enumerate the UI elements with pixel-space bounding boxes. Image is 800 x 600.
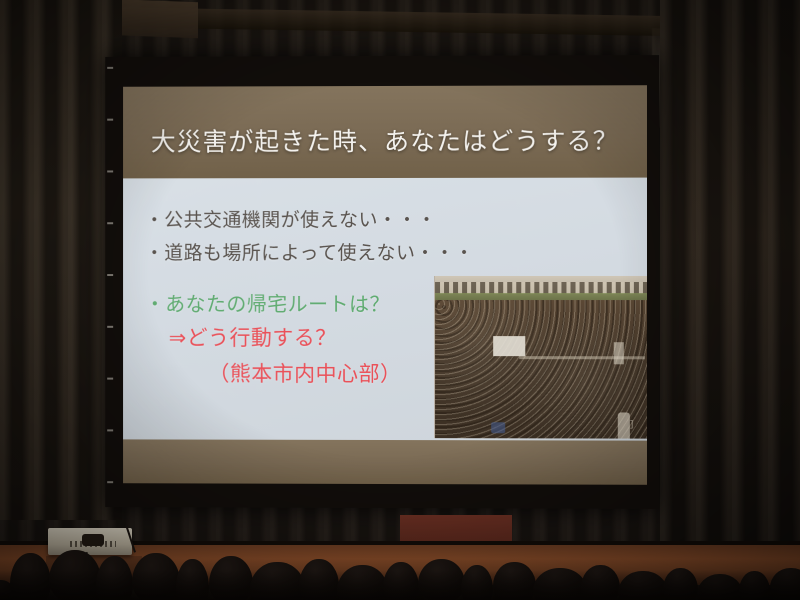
list-item: ・道路も場所によって使えない・・・	[145, 237, 474, 270]
list-item: ・公共交通機関が使えない・・・	[145, 204, 474, 237]
projection-screen: 大災害が起きた時、あなたはどうする？ ・公共交通機関が使えない・・・ ・道路も場…	[105, 55, 659, 509]
audience-foreground-shadow	[0, 570, 800, 600]
photo-light-post	[614, 342, 624, 364]
photo-white-figure	[618, 412, 630, 438]
screen-grommets	[107, 67, 113, 497]
slide-highlight-red-primary: ⇒どう行動する？	[169, 322, 337, 352]
stage-curtain-right	[660, 0, 800, 560]
photo-blue-figure	[491, 422, 505, 433]
photo-corner-mark: ］	[630, 418, 639, 431]
slide-bullet-list: ・公共交通機関が使えない・・・ ・道路も場所によって使えない・・・	[145, 204, 474, 270]
slide-crowd-photo: ］	[434, 276, 647, 439]
presentation-slide: 大災害が起きた時、あなたはどうする？ ・公共交通機関が使えない・・・ ・道路も場…	[123, 85, 647, 485]
photo-scene: 大災害が起きた時、あなたはどうする？ ・公共交通機関が使えない・・・ ・道路も場…	[0, 0, 800, 600]
slide-highlight-green: ・あなたの帰宅ルートは？	[145, 288, 390, 317]
slide-footer-band	[123, 439, 647, 484]
slide-title: 大災害が起きた時、あなたはどうする？	[123, 121, 647, 158]
photo-white-board	[493, 336, 525, 356]
slide-highlight-red-secondary: （熊本市内中心部）	[208, 358, 401, 388]
photo-rail-line	[519, 356, 645, 359]
stage-curtain-left	[0, 0, 122, 520]
photo-crowd-area: ］	[435, 300, 647, 439]
